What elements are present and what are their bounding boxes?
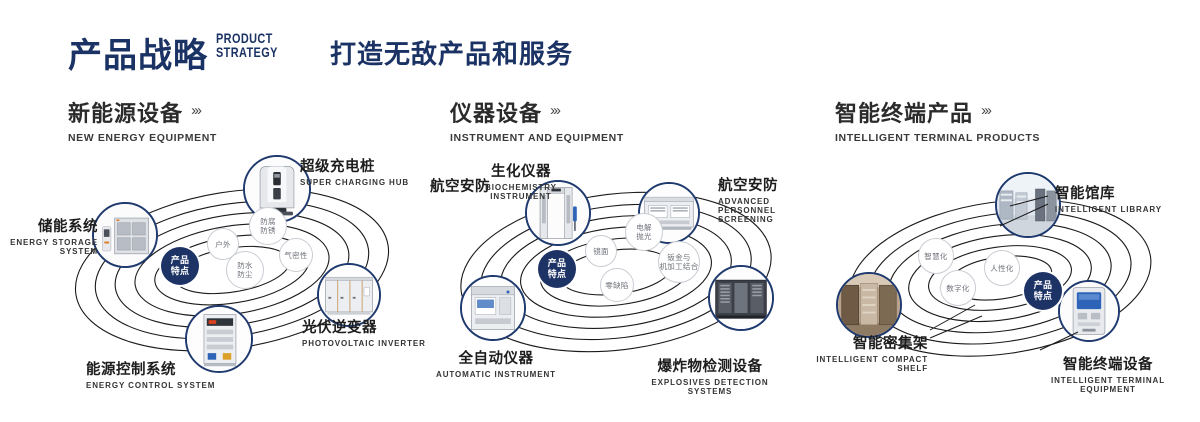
section-heading-en: NEW ENERGY EQUIPMENT [68, 132, 217, 144]
feature-text: 防水防尘 [237, 261, 253, 279]
label-compact-shelf: 智能密集架 INTELLIGENT COMPACTSHELF [798, 332, 928, 373]
chevron-right-triple-icon: ››› [191, 102, 200, 119]
label-energy-control: 能源控制系统 ENERGY CONTROL SYSTEM [86, 358, 215, 390]
section-heading-cn: 智能终端产品 [835, 96, 973, 128]
label-cn: 智能密集架 [798, 332, 928, 353]
label-cn: 智能馆库 [1055, 182, 1162, 203]
page-title-english: PRODUCT STRATEGY [216, 31, 278, 59]
label-explosives-detection: 爆炸物检测设备 EXPLOSIVES DETECTION SYSTEMS [630, 355, 790, 396]
label-en: EXPLOSIVES DETECTION SYSTEMS [630, 378, 790, 396]
label-en: INTELLIGENT TERMINAL EQUIPMENT [1022, 376, 1194, 394]
label-cn: 爆炸物检测设备 [630, 355, 790, 376]
product-bubble-energy-storage[interactable] [92, 202, 158, 268]
label-en: INTELLIGENT COMPACTSHELF [798, 355, 928, 373]
label-cn: 生化仪器 [462, 160, 580, 181]
section-heading-new-energy: 新能源设备››› NEW ENERGY EQUIPMENT [68, 96, 217, 144]
label-cn: 全自动仪器 [430, 347, 562, 368]
section-heading-en: INSTRUMENT AND EQUIPMENT [450, 132, 624, 144]
section-heading-terminal: 智能终端产品››› INTELLIGENT TERMINAL PRODUCTS [835, 96, 1040, 144]
page-title: 产品战略 [68, 28, 208, 77]
label-charging-pile: 超级充电桩 SUPER CHARGING HUB [300, 155, 409, 187]
feature-text: 防腐防锈 [260, 217, 276, 235]
product-strategy-infographic: 产品战略 PRODUCT STRATEGY 打造无敌产品和服务 新能源设备›››… [0, 0, 1200, 422]
product-bubble-compact-shelf[interactable] [836, 272, 902, 338]
label-advanced-personnel-screening: 航空安防 ADVANCED PERSONNELSCREENING [718, 174, 828, 224]
product-bubble-library-shelves[interactable] [995, 172, 1061, 238]
feature-bubble-airtight[interactable]: 气密性 [279, 238, 313, 272]
feature-text: 数字化 [946, 284, 969, 293]
label-en: BIOCHEMISTRYINSTRUMENT [462, 183, 580, 201]
label-terminal-equipment: 智能终端设备 INTELLIGENT TERMINAL EQUIPMENT [1022, 353, 1194, 394]
feature-bubble-digital[interactable]: 数字化 [940, 270, 976, 306]
feature-bubble-humanized[interactable]: 人性化 [984, 250, 1020, 286]
core-feature-bubble[interactable]: 产品特点 [538, 250, 576, 288]
core-feature-text: 产品特点 [548, 258, 567, 280]
product-bubble-terminal-kiosk[interactable] [1058, 280, 1120, 342]
label-energy-storage: 储能系统 ENERGY STORAGE SYSTEM [0, 215, 98, 256]
product-bubble-explosives-detector[interactable] [708, 265, 774, 331]
chevron-right-triple-icon: ››› [550, 102, 559, 119]
label-en: ENERGY STORAGE SYSTEM [0, 238, 98, 256]
section-heading-cn: 仪器设备 [450, 96, 542, 128]
label-en: AUTOMATIC INSTRUMENT [430, 370, 562, 379]
label-en: INTELLIGENT LIBRARY [1055, 205, 1162, 214]
core-feature-bubble[interactable]: 产品特点 [161, 247, 199, 285]
page-title-english-line2: STRATEGY [216, 45, 278, 59]
label-intelligent-library: 智能馆库 INTELLIGENT LIBRARY [1055, 182, 1162, 214]
label-cn: 智能终端设备 [1022, 353, 1194, 374]
feature-bubble-sheetmetal-machining[interactable]: 钣金与机加工结合 [658, 241, 700, 283]
label-cn: 航空安防 [718, 174, 828, 195]
label-photovoltaic-inverter: 光伏逆变器 PHOTOVOLTAIC INVERTER [302, 316, 426, 348]
section-heading-en: INTELLIGENT TERMINAL PRODUCTS [835, 132, 1040, 144]
label-en: ADVANCED PERSONNELSCREENING [718, 197, 828, 224]
core-feature-text: 产品特点 [1034, 280, 1053, 302]
page-title-english-line1: PRODUCT [216, 31, 278, 45]
label-en: ENERGY CONTROL SYSTEM [86, 381, 215, 390]
feature-text: 智慧化 [924, 252, 947, 261]
chevron-right-triple-icon: ››› [981, 102, 990, 119]
feature-text: 零缺陷 [605, 281, 628, 290]
label-cn: 能源控制系统 [86, 358, 215, 379]
label-cn: 储能系统 [0, 215, 98, 236]
core-feature-bubble[interactable]: 产品特点 [1024, 272, 1062, 310]
feature-text: 人性化 [990, 264, 1013, 273]
page-subtitle: 打造无敌产品和服务 [330, 34, 573, 71]
label-en: SUPER CHARGING HUB [300, 178, 409, 187]
product-bubble-automatic-instrument[interactable] [460, 275, 526, 341]
feature-text: 电解抛光 [636, 223, 652, 241]
feature-bubble-intelligent[interactable]: 智慧化 [918, 238, 954, 274]
feature-text: 气密性 [284, 251, 307, 260]
core-feature-text: 产品特点 [171, 255, 190, 277]
page-header: 产品战略 PRODUCT STRATEGY 打造无敌产品和服务 [0, 0, 1200, 86]
label-cn: 超级充电桩 [300, 155, 409, 176]
feature-text: 户外 [215, 240, 231, 249]
label-biochemistry-instrument: 生化仪器 BIOCHEMISTRYINSTRUMENT [462, 160, 580, 201]
feature-bubble-anticorrosion[interactable]: 防腐防锈 [249, 207, 287, 245]
section-heading-instrument: 仪器设备››› INSTRUMENT AND EQUIPMENT [450, 96, 624, 144]
feature-bubble-mirror[interactable]: 镜面 [585, 235, 617, 267]
label-cn: 光伏逆变器 [302, 316, 426, 337]
label-automatic-instrument: 全自动仪器 AUTOMATIC INSTRUMENT [430, 347, 562, 379]
feature-bubble-electropolishing[interactable]: 电解抛光 [625, 213, 663, 251]
label-en: PHOTOVOLTAIC INVERTER [302, 339, 426, 348]
feature-text: 钣金与机加工结合 [660, 253, 699, 271]
feature-bubble-zero-defect[interactable]: 零缺陷 [600, 268, 634, 302]
feature-text: 镜面 [593, 247, 609, 256]
section-heading-cn: 新能源设备 [68, 96, 183, 128]
feature-bubble-waterproof[interactable]: 防水防尘 [226, 251, 264, 289]
